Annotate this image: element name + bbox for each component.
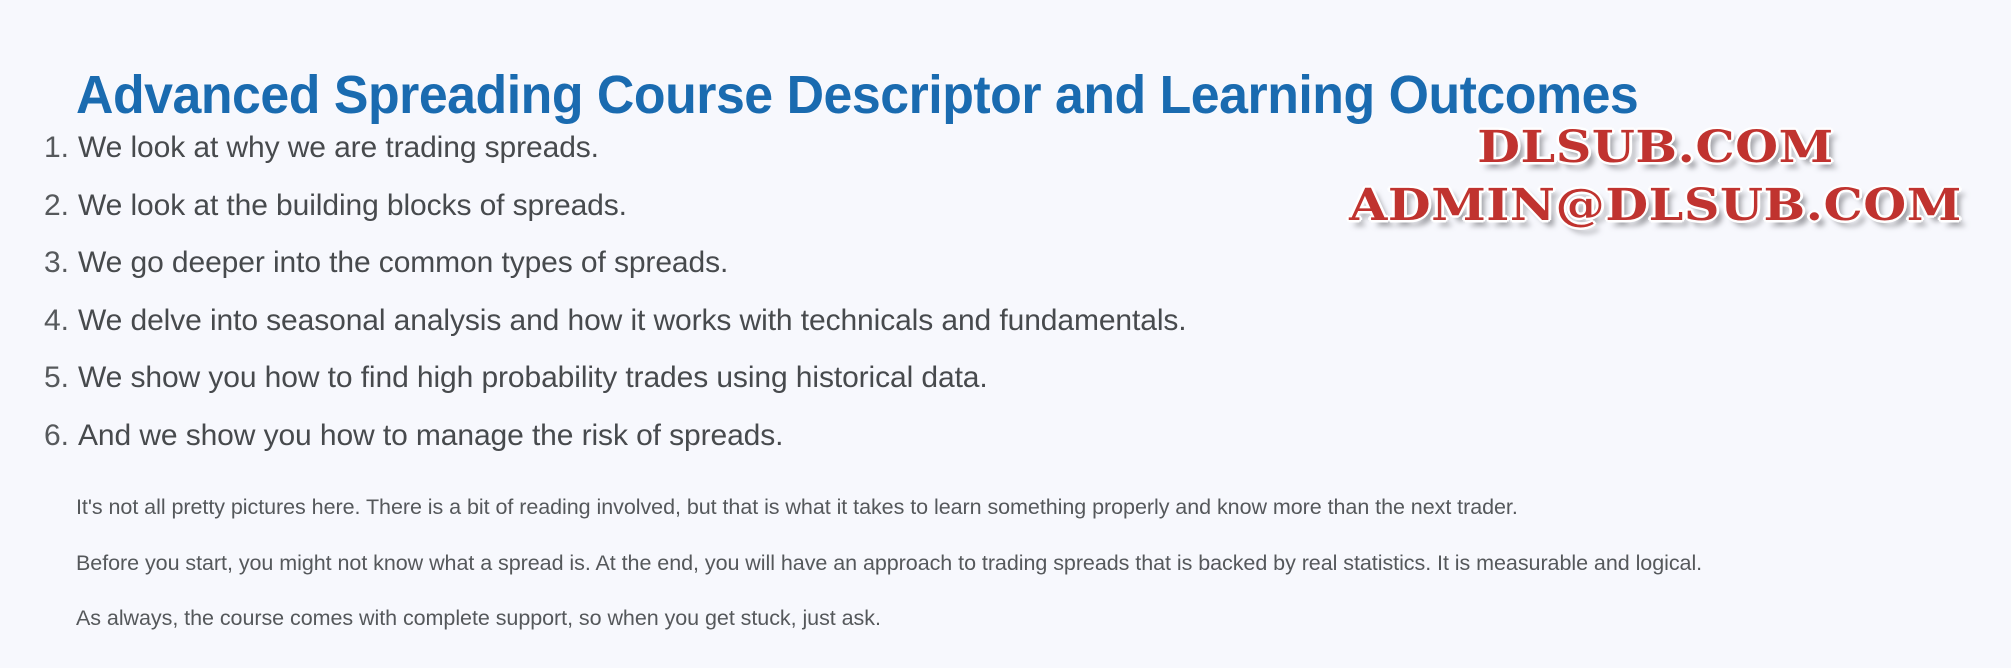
watermark-email: ADMIN@DLSUB.COM [1257,184,2011,228]
list-item-text: We look at the building blocks of spread… [78,191,627,221]
list-item-number: 2. [44,191,78,221]
list-item-number: 1. [44,133,78,163]
list-item: 6. And we show you how to manage the ris… [44,421,1187,451]
note-paragraph: It's not all pretty pictures here. There… [76,497,1976,519]
list-item-number: 6. [44,421,78,451]
course-descriptor-page: Advanced Spreading Course Descriptor and… [0,0,2011,668]
list-item-number: 3. [44,248,78,278]
page-title: Advanced Spreading Course Descriptor and… [76,64,1638,126]
list-item-text: We delve into seasonal analysis and how … [78,306,1187,336]
list-item: 2. We look at the building blocks of spr… [44,191,1187,221]
list-item-text: We show you how to find high probability… [78,363,988,393]
watermark-domain: DLSUB.COM [1257,126,2011,170]
list-item: 1. We look at why we are trading spreads… [44,133,1187,163]
list-item-text: We look at why we are trading spreads. [78,133,599,163]
list-item: 3. We go deeper into the common types of… [44,248,1187,278]
note-paragraph: Before you start, you might not know wha… [76,553,1976,575]
site-watermark: DLSUB.COM ADMIN@DLSUB.COM [1300,126,2011,228]
list-item-number: 4. [44,306,78,336]
list-item-text: We go deeper into the common types of sp… [78,248,728,278]
notes-block: It's not all pretty pictures here. There… [76,497,1976,664]
note-paragraph: As always, the course comes with complet… [76,608,1976,630]
list-item: 5. We show you how to find high probabil… [44,363,1187,393]
list-item: 4. We delve into seasonal analysis and h… [44,306,1187,336]
learning-outcomes-list: 1. We look at why we are trading spreads… [44,133,1187,478]
list-item-number: 5. [44,363,78,393]
list-item-text: And we show you how to manage the risk o… [78,421,783,451]
